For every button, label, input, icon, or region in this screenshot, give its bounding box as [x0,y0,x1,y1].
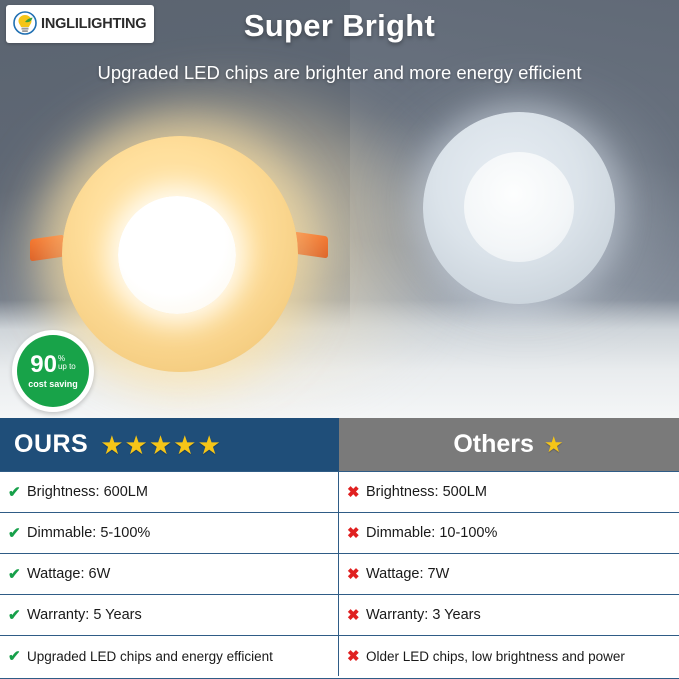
star-icon: ★ [544,434,564,456]
star-icon: ★ [149,432,172,458]
comparison-table: OURS ★ ★ ★ ★ ★ Others ★ ✔ Brightness: 60… [0,418,679,679]
check-icon: ✔ [8,606,27,624]
ours-cell: ✔ Warranty: 5 Years [0,595,339,635]
check-icon: ✔ [8,647,27,665]
brand-logo: INGLILIGHTING [6,5,154,43]
ours-feature-text: Dimmable: 5-100% [27,525,150,541]
cross-icon: ✖ [347,524,366,542]
table-row: ✔ Warranty: 5 Years ✖ Warranty: 3 Years [0,594,679,635]
savings-badge: 90 % up to cost saving [12,330,94,412]
hero-image: Super Bright Upgraded LED chips are brig… [0,0,679,418]
star-icon: ★ [125,432,148,458]
table-row: ✔ Upgraded LED chips and energy efficien… [0,635,679,676]
others-downlight-ring [423,112,615,304]
savings-badge-inner: 90 % up to cost saving [17,335,89,407]
ours-downlight-lens [118,196,236,314]
ours-cell: ✔ Dimmable: 5-100% [0,513,339,553]
ours-feature-text: Wattage: 6W [27,566,110,582]
header-ours: OURS ★ ★ ★ ★ ★ [0,418,339,471]
ours-star-rating: ★ ★ ★ ★ ★ [100,432,222,458]
others-cell: ✖ Warranty: 3 Years [339,595,679,635]
others-cell: ✖ Older LED chips, low brightness and po… [339,636,679,676]
page-subtitle: Upgraded LED chips are brighter and more… [0,62,679,84]
others-feature-text: Warranty: 3 Years [366,607,481,623]
table-row: ✔ Brightness: 600LM ✖ Brightness: 500LM [0,471,679,512]
table-header-row: OURS ★ ★ ★ ★ ★ Others ★ [0,418,679,471]
others-cell: ✖ Wattage: 7W [339,554,679,594]
star-icon: ★ [100,432,123,458]
ours-cell: ✔ Upgraded LED chips and energy efficien… [0,636,339,676]
cross-icon: ✖ [347,606,366,624]
header-ours-label: OURS [14,430,88,459]
table-row: ✔ Dimmable: 5-100% ✖ Dimmable: 10-100% [0,512,679,553]
ours-feature-text: Upgraded LED chips and energy efficient [27,649,273,664]
star-icon: ★ [173,432,196,458]
others-feature-text: Wattage: 7W [366,566,449,582]
table-row: ✔ Wattage: 6W ✖ Wattage: 7W [0,553,679,594]
header-others-label: Others [453,430,534,459]
ours-cell: ✔ Brightness: 600LM [0,472,339,512]
ours-feature-text: Warranty: 5 Years [27,607,142,623]
check-icon: ✔ [8,524,27,542]
cross-icon: ✖ [347,483,366,501]
others-cell: ✖ Dimmable: 10-100% [339,513,679,553]
star-icon: ★ [197,432,220,458]
others-downlight-lens [464,152,574,262]
savings-caption: cost saving [28,380,78,389]
check-icon: ✔ [8,483,27,501]
others-feature-text: Dimmable: 10-100% [366,525,497,541]
header-others: Others ★ [339,418,679,471]
ours-downlight-ring [62,136,298,372]
ours-feature-text: Brightness: 600LM [27,484,148,500]
others-cell: ✖ Brightness: 500LM [339,472,679,512]
mounting-clip-right-icon [294,232,328,259]
savings-upto: up to [58,362,76,371]
others-feature-text: Older LED chips, low brightness and powe… [366,649,625,664]
check-icon: ✔ [8,565,27,583]
ours-cell: ✔ Wattage: 6W [0,554,339,594]
others-downlight [423,112,615,304]
product-infographic: Super Bright Upgraded LED chips are brig… [0,0,679,679]
bulb-leaf-icon [10,9,40,39]
ours-downlight [62,136,298,372]
cross-icon: ✖ [347,647,366,665]
others-feature-text: Brightness: 500LM [366,484,487,500]
savings-number: 90 [30,353,57,377]
brand-name: INGLILIGHTING [41,16,146,32]
cross-icon: ✖ [347,565,366,583]
